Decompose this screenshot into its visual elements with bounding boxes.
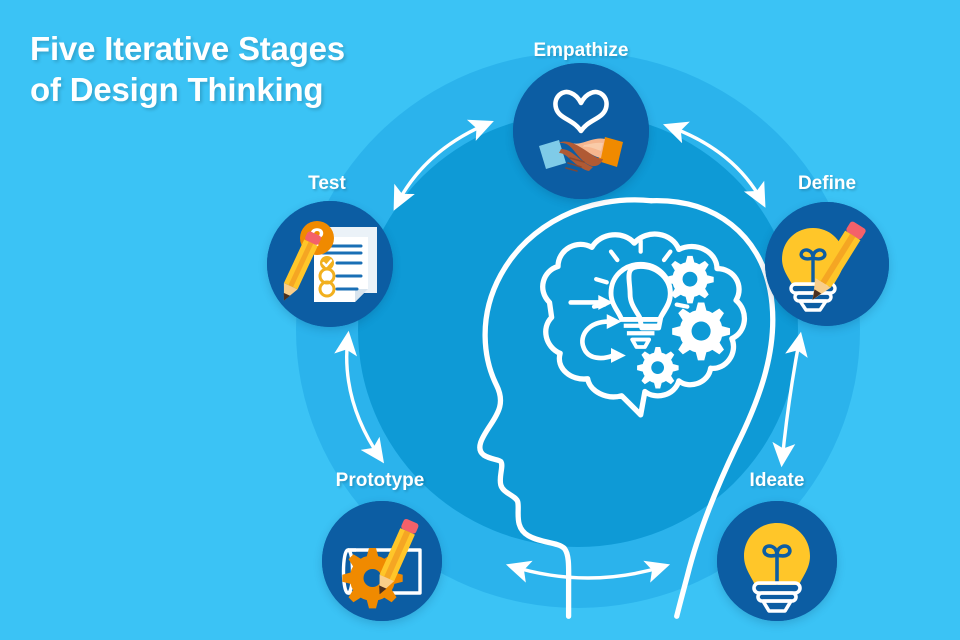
infographic-canvas: Five Iterative Stages of Design Thinking… bbox=[0, 0, 960, 640]
stage-label-define: Define bbox=[798, 173, 856, 195]
blueprint-gear-pencil-icon bbox=[322, 501, 442, 621]
stage-label-empathize: Empathize bbox=[533, 40, 628, 62]
lightbulb-pencil-icon bbox=[765, 202, 889, 326]
stage-label-test: Test bbox=[308, 173, 346, 195]
stage-node-empathize[interactable] bbox=[513, 63, 649, 199]
stage-node-test[interactable]: ? bbox=[267, 201, 393, 327]
lightbulb-icon bbox=[717, 501, 837, 621]
stage-node-ideate[interactable] bbox=[717, 501, 837, 621]
page-title: Five Iterative Stages of Design Thinking bbox=[30, 28, 345, 110]
checklist-question-pencil-icon: ? bbox=[267, 201, 393, 327]
stage-label-ideate: Ideate bbox=[750, 470, 805, 492]
stage-node-prototype[interactable] bbox=[322, 501, 442, 621]
stage-label-prototype: Prototype bbox=[336, 470, 425, 492]
title-line-2: of Design Thinking bbox=[30, 69, 345, 110]
handshake-heart-icon bbox=[513, 63, 649, 199]
stage-node-define[interactable] bbox=[765, 202, 889, 326]
title-line-1: Five Iterative Stages bbox=[30, 28, 345, 69]
